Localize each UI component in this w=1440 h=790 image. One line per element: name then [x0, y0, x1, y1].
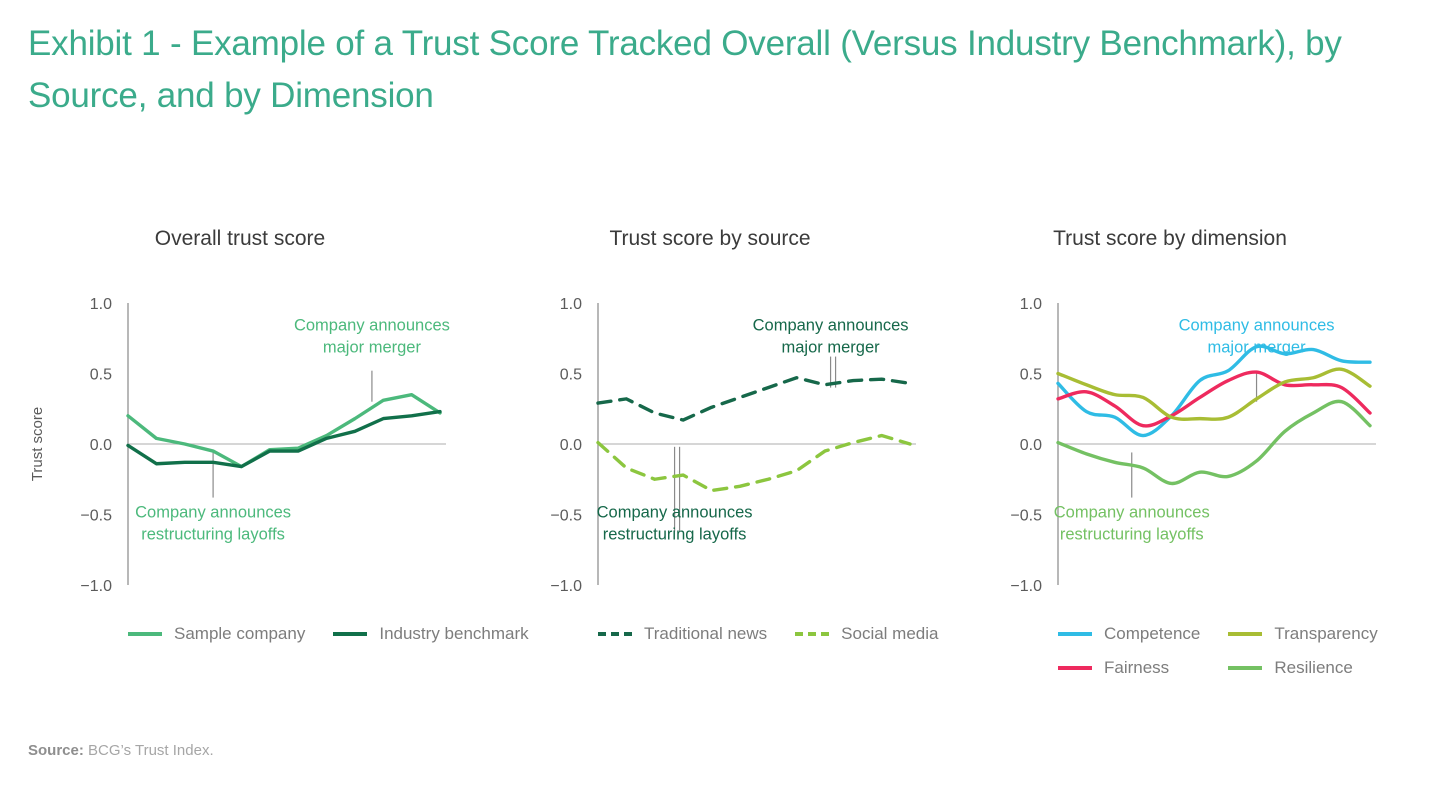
legend-overall: Sample companyIndustry benchmark	[10, 620, 470, 700]
y-tick-label: −0.5	[1010, 508, 1042, 525]
legend-item[interactable]: Fairness	[1058, 654, 1200, 682]
y-tick-label: −1.0	[550, 578, 582, 595]
annotation-text: Company announces	[135, 504, 291, 522]
y-axis-title: Trust score	[29, 407, 46, 481]
page-title: Exhibit 1 - Example of a Trust Score Tra…	[28, 18, 1358, 122]
legend-swatch-fairness-icon	[1058, 666, 1092, 670]
annotation-text: restructuring layoffs	[1060, 526, 1204, 544]
plot-by-source: 1.00.50.0−0.5−1.0Company announcesrestru…	[480, 285, 940, 615]
annotation-text: Company announces	[1179, 317, 1335, 335]
legend-swatch-industry-benchmark-icon	[333, 632, 367, 636]
legend-label: Resilience	[1274, 658, 1352, 678]
source-note: Source: BCG’s Trust Index.	[28, 742, 214, 759]
y-tick-label: 1.0	[1020, 296, 1042, 313]
panel-title-overall: Overall trust score	[10, 227, 470, 251]
legend-label: Sample company	[174, 624, 305, 644]
legend-swatch-transparency-icon	[1228, 632, 1262, 636]
legend-item[interactable]: Resilience	[1228, 654, 1377, 682]
y-tick-label: 1.0	[560, 296, 582, 313]
panel-title-by-source: Trust score by source	[480, 227, 940, 251]
legend-swatch-sample-company-icon	[128, 632, 162, 636]
annotation-text: restructuring layoffs	[603, 526, 747, 544]
legend-label: Social media	[841, 624, 938, 644]
legend-by-dimension: CompetenceFairnessTransparencyResilience	[940, 620, 1400, 700]
panel-title-by-dimension: Trust score by dimension	[940, 227, 1400, 251]
annotation-text: Company announces	[294, 317, 450, 335]
annotation-text: Company announces	[1054, 504, 1210, 522]
source-text: BCG’s Trust Index.	[84, 742, 214, 759]
annotation-text: Company announces	[753, 317, 909, 335]
y-tick-label: −0.5	[550, 508, 582, 525]
series-line	[128, 412, 440, 467]
plot-by-dimension: 1.00.50.0−0.5−1.0Company announcesrestru…	[940, 285, 1400, 615]
legend-swatch-traditional-news-icon	[598, 632, 632, 636]
y-tick-label: 1.0	[90, 296, 112, 313]
y-tick-label: 0.5	[560, 367, 582, 384]
legend-swatch-resilience-icon	[1228, 666, 1262, 670]
y-tick-label: 0.0	[560, 437, 582, 454]
legend-label: Transparency	[1274, 624, 1377, 644]
y-tick-label: 0.5	[1020, 367, 1042, 384]
legend-label: Traditional news	[644, 624, 767, 644]
legend-item[interactable]: Traditional news	[598, 620, 767, 648]
legend-item[interactable]: Transparency	[1228, 620, 1377, 648]
y-tick-label: −1.0	[80, 578, 112, 595]
legend-item[interactable]: Competence	[1058, 620, 1200, 648]
plot-overall: 1.00.50.0−0.5−1.0Trust scoreCompany anno…	[10, 285, 470, 615]
series-line	[598, 378, 910, 420]
source-label: Source:	[28, 742, 84, 759]
annotation-text: major merger	[323, 339, 422, 357]
legend-swatch-competence-icon	[1058, 632, 1092, 636]
legend-label: Competence	[1104, 624, 1200, 644]
legend-item[interactable]: Social media	[795, 620, 938, 648]
y-tick-label: −1.0	[1010, 578, 1042, 595]
legend-by-source: Traditional newsSocial media	[480, 620, 940, 700]
series-line	[128, 395, 440, 467]
annotation-text: Company announces	[597, 504, 753, 522]
legend-swatch-social-media-icon	[795, 632, 829, 636]
legend-label: Fairness	[1104, 658, 1169, 678]
chart-panel-by-source: Trust score by source 1.00.50.0−0.5−1.0C…	[480, 215, 940, 705]
charts-container: Overall trust score 1.00.50.0−0.5−1.0Tru…	[0, 215, 1440, 705]
annotation-text: major merger	[782, 339, 881, 357]
y-tick-label: 0.5	[90, 367, 112, 384]
y-tick-label: −0.5	[80, 508, 112, 525]
chart-panel-by-dimension: Trust score by dimension 1.00.50.0−0.5−1…	[940, 215, 1400, 705]
y-tick-label: 0.0	[90, 437, 112, 454]
legend-item[interactable]: Sample company	[128, 620, 305, 648]
chart-panel-overall: Overall trust score 1.00.50.0−0.5−1.0Tru…	[10, 215, 470, 705]
y-tick-label: 0.0	[1020, 437, 1042, 454]
annotation-text: restructuring layoffs	[141, 526, 285, 544]
